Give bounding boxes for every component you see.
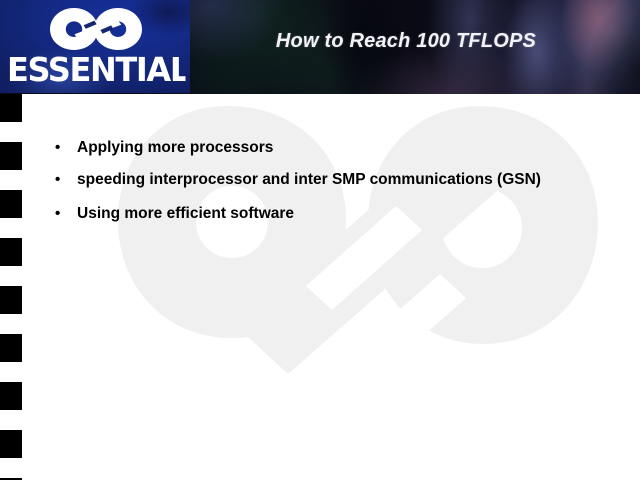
brand-logo-panel: ESSENTIAL — [0, 0, 190, 93]
list-item: • Using more efficient software — [52, 204, 622, 224]
filmstrip-block — [0, 94, 22, 122]
filmstrip-block — [0, 430, 22, 458]
bullet-text: speeding interprocessor and inter SMP co… — [77, 170, 622, 190]
left-filmstrip-decoration — [0, 94, 24, 480]
page-title: How to Reach 100 TFLOPS — [196, 30, 616, 53]
filmstrip-block — [0, 334, 22, 362]
brand-wordmark: ESSENTIAL — [7, 53, 185, 87]
slide-canvas: How to Reach 100 TFLOPS E — [0, 0, 640, 480]
filmstrip-block — [0, 382, 22, 410]
filmstrip-block — [0, 142, 22, 170]
bullet-marker: • — [52, 204, 77, 224]
bullet-marker: • — [52, 170, 77, 190]
infinity-linked-rings-icon — [44, 6, 148, 52]
list-item: • speeding interprocessor and inter SMP … — [52, 170, 622, 190]
bullet-marker: • — [52, 138, 77, 158]
filmstrip-block — [0, 286, 22, 314]
bullet-text: Using more efficient software — [77, 204, 622, 224]
list-item: • Applying more processors — [52, 138, 622, 158]
filmstrip-block — [0, 190, 22, 218]
bullet-text: Applying more processors — [77, 138, 622, 158]
bullet-list: • Applying more processors • speeding in… — [52, 138, 622, 236]
filmstrip-block — [0, 238, 22, 266]
